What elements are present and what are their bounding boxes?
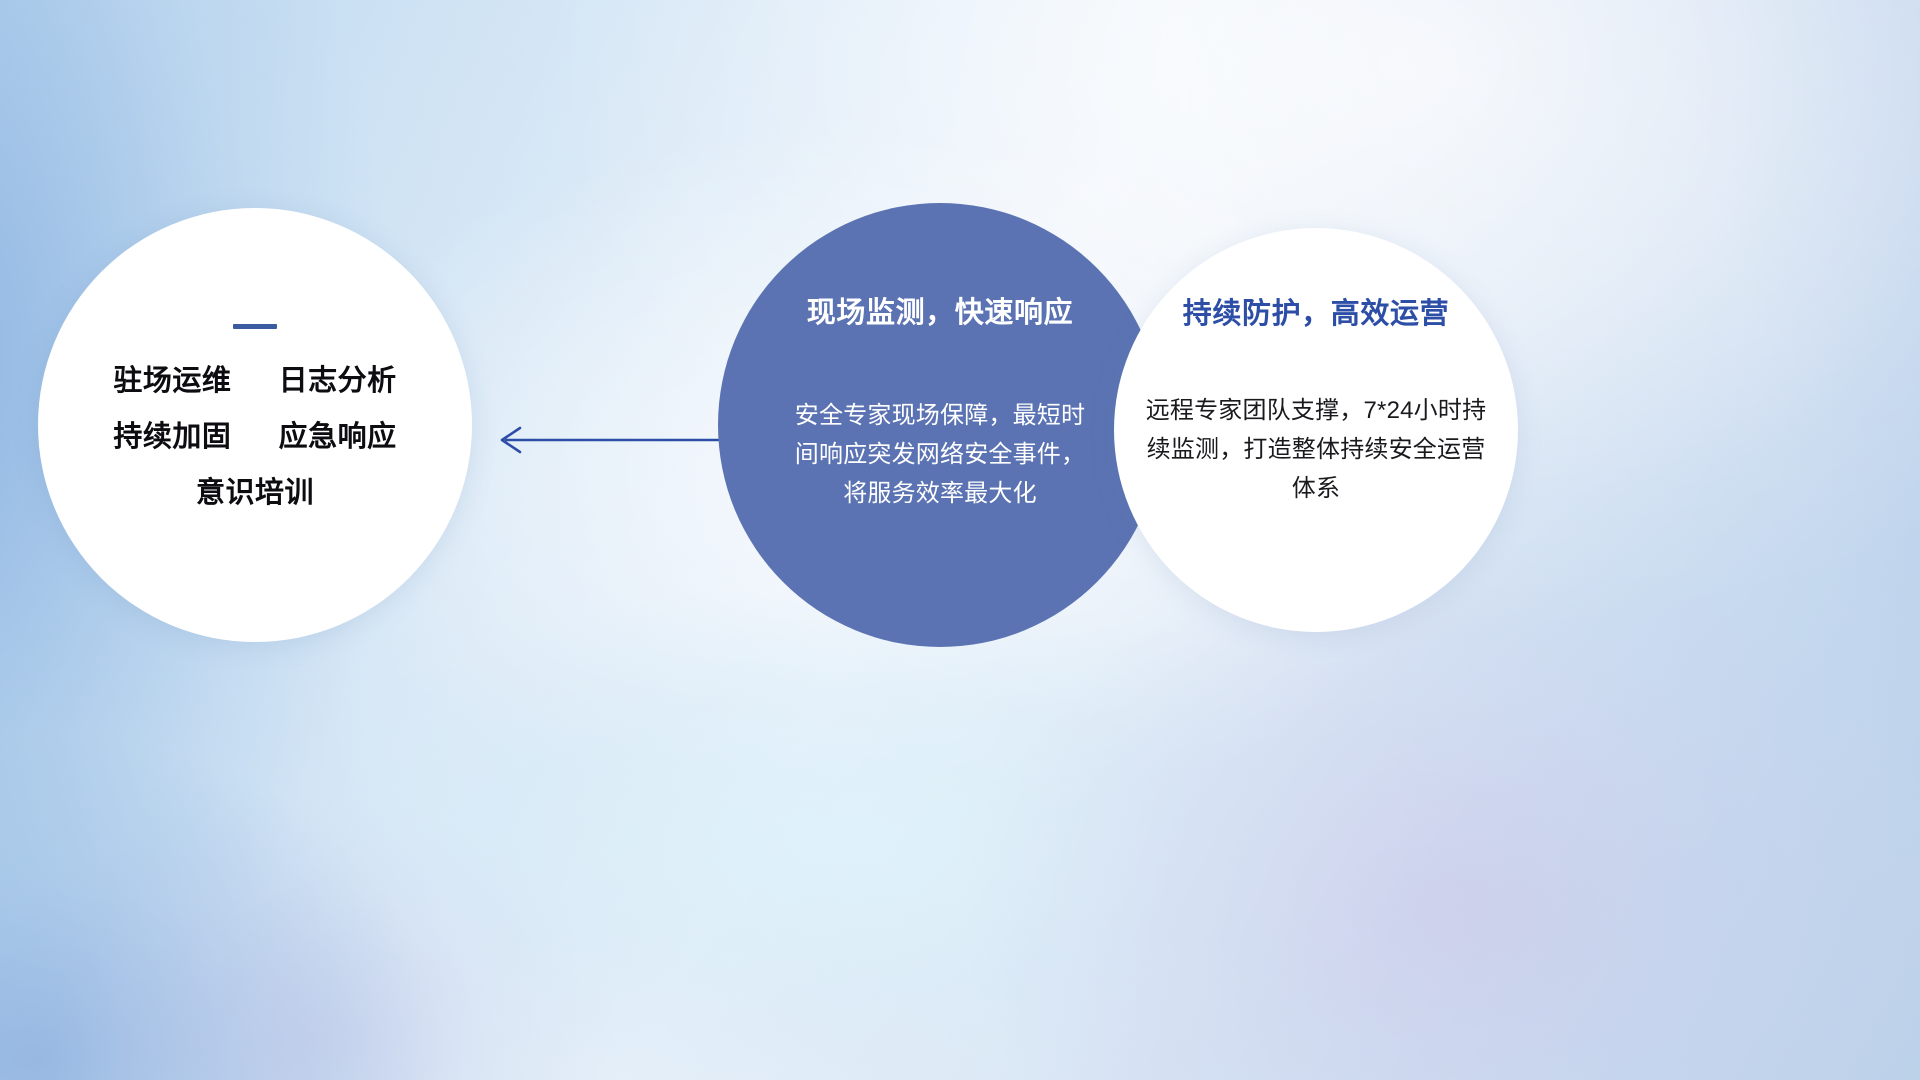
keyword-onsite-ops: 驻场运维 — [113, 365, 231, 397]
continuous-circle-title: 持续防护，高效运营 — [1183, 290, 1449, 332]
continuous-circle-body: 远程专家团队支撑，7*24小时持续监测，打造整体持续安全运营体系 — [1138, 392, 1494, 509]
keyword-list: 驻场运维 日志分析 持续加固 应急响应 意识培训 — [38, 367, 472, 508]
keyword-row: 持续加固 应急响应 — [38, 423, 472, 452]
keyword-row: 意识培训 — [38, 479, 472, 508]
keyword-log-analysis: 日志分析 — [279, 365, 397, 397]
keyword-emergency-response: 应急响应 — [279, 421, 397, 453]
capabilities-circle[interactable]: 驻场运维 日志分析 持续加固 应急响应 意识培训 — [38, 208, 472, 642]
keyword-continuous-hardening: 持续加固 — [113, 421, 231, 453]
keyword-awareness-training: 意识培训 — [196, 477, 314, 509]
onsite-circle-body: 安全专家现场保障，最短时间响应突发网络安全事件，将服务效率最大化 — [789, 397, 1091, 514]
onsite-circle-title: 现场监测，快速响应 — [807, 289, 1073, 331]
connector-arrow-group — [470, 400, 750, 490]
keyword-row: 驻场运维 日志分析 — [38, 367, 472, 396]
onsite-monitoring-circle[interactable]: 现场监测，快速响应 安全专家现场保障，最短时间响应突发网络安全事件，将服务效率最… — [718, 203, 1162, 647]
continuous-protection-circle[interactable]: 持续防护，高效运营 远程专家团队支撑，7*24小时持续监测，打造整体持续安全运营… — [1114, 228, 1518, 632]
divider-dash-icon — [233, 324, 277, 329]
slide-canvas: 驻场运维 日志分析 持续加固 应急响应 意识培训 现场监测，快速响应 安全专家现… — [0, 0, 1920, 1080]
